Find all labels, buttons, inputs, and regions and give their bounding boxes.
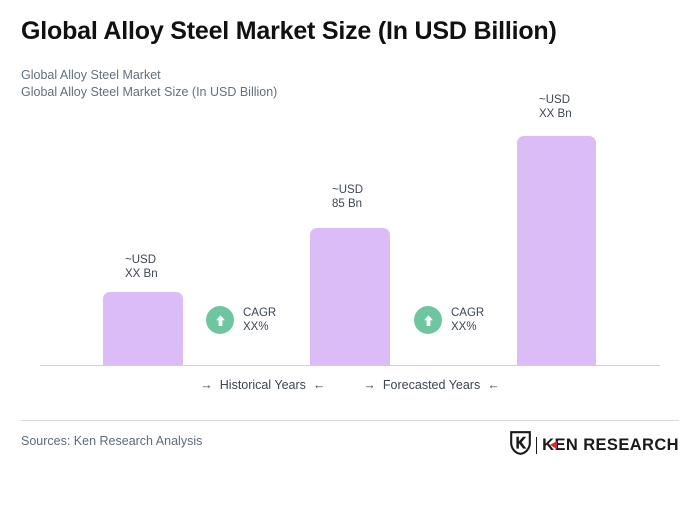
bar-3-value-line-1: ~USD	[539, 93, 572, 107]
logo-wordmark: KEN RESEARCH	[542, 437, 679, 454]
arrow-left-icon: ←	[313, 379, 326, 392]
bar-2-value-line-1: ~USD	[332, 183, 363, 197]
arrow-right-icon: →	[363, 379, 376, 392]
logo-divider	[536, 437, 538, 454]
arrow-up-icon	[414, 306, 442, 334]
footer-divider	[21, 420, 679, 421]
bar-3[interactable]	[517, 136, 596, 365]
chart-page: Global Alloy Steel Market Size (In USD B…	[0, 0, 700, 520]
period-forecasted: → Forecasted Years ←	[363, 378, 499, 392]
red-triangle-icon	[550, 441, 557, 449]
cagr-badge-1-text: CAGR XX%	[243, 306, 276, 334]
x-axis-line	[40, 365, 660, 366]
bar-2[interactable]	[310, 228, 390, 365]
bar-2-value-label: ~USD 85 Bn	[332, 183, 363, 211]
bar-2-value-line-2: 85 Bn	[332, 197, 363, 211]
bar-3-value-line-2: XX Bn	[539, 107, 572, 121]
arrow-right-icon: →	[200, 379, 213, 392]
bar-1-value-line-1: ~USD	[125, 253, 158, 267]
ken-research-logo: KEN RESEARCH	[510, 431, 679, 460]
shield-k-icon	[510, 431, 531, 460]
arrow-left-icon: ←	[487, 379, 500, 392]
bar-1-value-label: ~USD XX Bn	[125, 253, 158, 281]
bar-3-value-label: ~USD XX Bn	[539, 93, 572, 121]
bar-1-value-line-2: XX Bn	[125, 267, 158, 281]
sources-text: Sources: Ken Research Analysis	[21, 434, 202, 448]
period-forecasted-label: Forecasted Years	[383, 378, 480, 392]
cagr-badge-2: CAGR XX%	[414, 306, 484, 334]
arrow-up-icon	[206, 306, 234, 334]
cagr-badge-1: CAGR XX%	[206, 306, 276, 334]
cagr-badge-2-text: CAGR XX%	[451, 306, 484, 334]
bar-1[interactable]	[103, 292, 183, 365]
cagr-badge-2-line-2: XX%	[451, 320, 484, 334]
plot-area: ~USD XX Bn CAGR XX% ~USD 85 Bn	[0, 0, 700, 400]
cagr-badge-1-line-2: XX%	[243, 320, 276, 334]
period-historical: → Historical Years ←	[200, 378, 325, 392]
cagr-badge-2-line-1: CAGR	[451, 306, 484, 320]
period-historical-label: Historical Years	[220, 378, 306, 392]
cagr-badge-1-line-1: CAGR	[243, 306, 276, 320]
period-labels: → Historical Years ← → Forecasted Years …	[0, 378, 700, 392]
